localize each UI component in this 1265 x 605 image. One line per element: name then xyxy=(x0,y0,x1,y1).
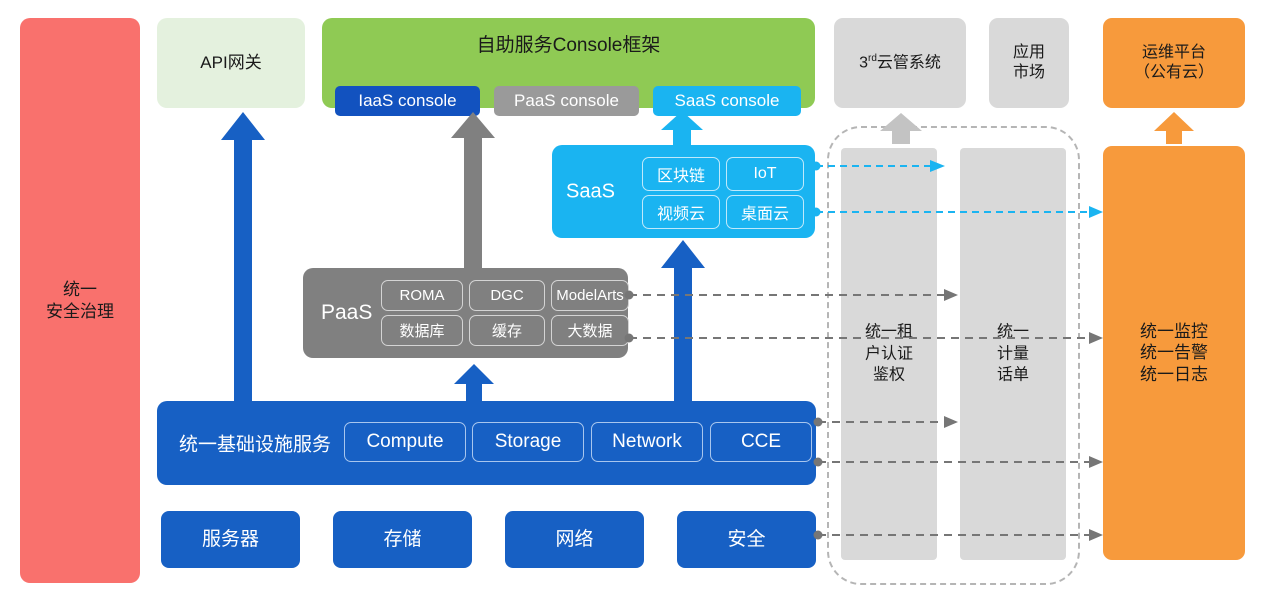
dashed-paas-to-ops-stack xyxy=(625,332,1104,344)
dashed-saas-to-ops-stack xyxy=(812,206,1104,218)
arrow-infra-to-paas xyxy=(454,364,494,404)
dashed-saas-to-auth xyxy=(812,160,946,172)
dashed-infra-to-ops-stack xyxy=(814,456,1104,468)
connector-overlay xyxy=(0,0,1265,605)
arrow-saas-to-console xyxy=(661,111,703,148)
dashed-infra-to-auth xyxy=(814,416,959,428)
arrow-ops-to-ops-platform xyxy=(1154,112,1194,144)
arrow-infra-to-saas xyxy=(661,240,705,404)
arrow-infra-to-apigw xyxy=(221,112,265,404)
dashed-resources-to-ops-stack xyxy=(814,529,1104,541)
arrow-shared-to-3rd-party xyxy=(880,113,922,144)
arrow-paas-to-console xyxy=(451,112,495,270)
